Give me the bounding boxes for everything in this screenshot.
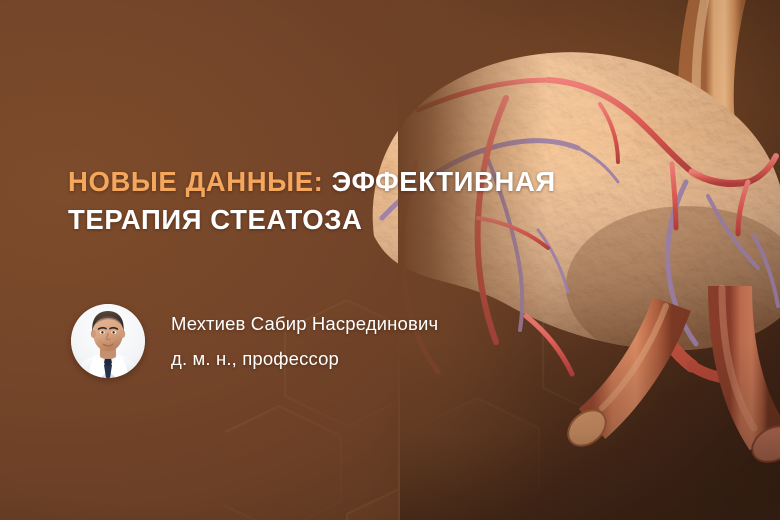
title-line-2: ТЕРАПИЯ СТЕАТОЗА — [68, 201, 708, 239]
page-title: НОВЫЕ ДАННЫЕ: ЭФФЕКТИВНАЯ ТЕРАПИЯ СТЕАТО… — [68, 163, 708, 239]
speaker-role: д. м. н., профессор — [171, 346, 438, 372]
title-accent-text: НОВЫЕ ДАННЫЕ: — [68, 166, 323, 197]
slide-content: НОВЫЕ ДАННЫЕ: ЭФФЕКТИВНАЯ ТЕРАПИЯ СТЕАТО… — [0, 0, 780, 520]
speaker-name: Мехтиев Сабир Насрединович — [171, 311, 438, 337]
speaker-info: Мехтиев Сабир Насрединович д. м. н., про… — [71, 304, 438, 378]
title-slide: НОВЫЕ ДАННЫЕ: ЭФФЕКТИВНАЯ ТЕРАПИЯ СТЕАТО… — [0, 0, 780, 520]
avatar — [71, 304, 145, 378]
title-line-1: НОВЫЕ ДАННЫЕ: ЭФФЕКТИВНАЯ — [68, 163, 708, 201]
speaker-text: Мехтиев Сабир Насрединович д. м. н., про… — [171, 311, 438, 372]
title-rest-text: ЭФФЕКТИВНАЯ — [332, 166, 556, 197]
